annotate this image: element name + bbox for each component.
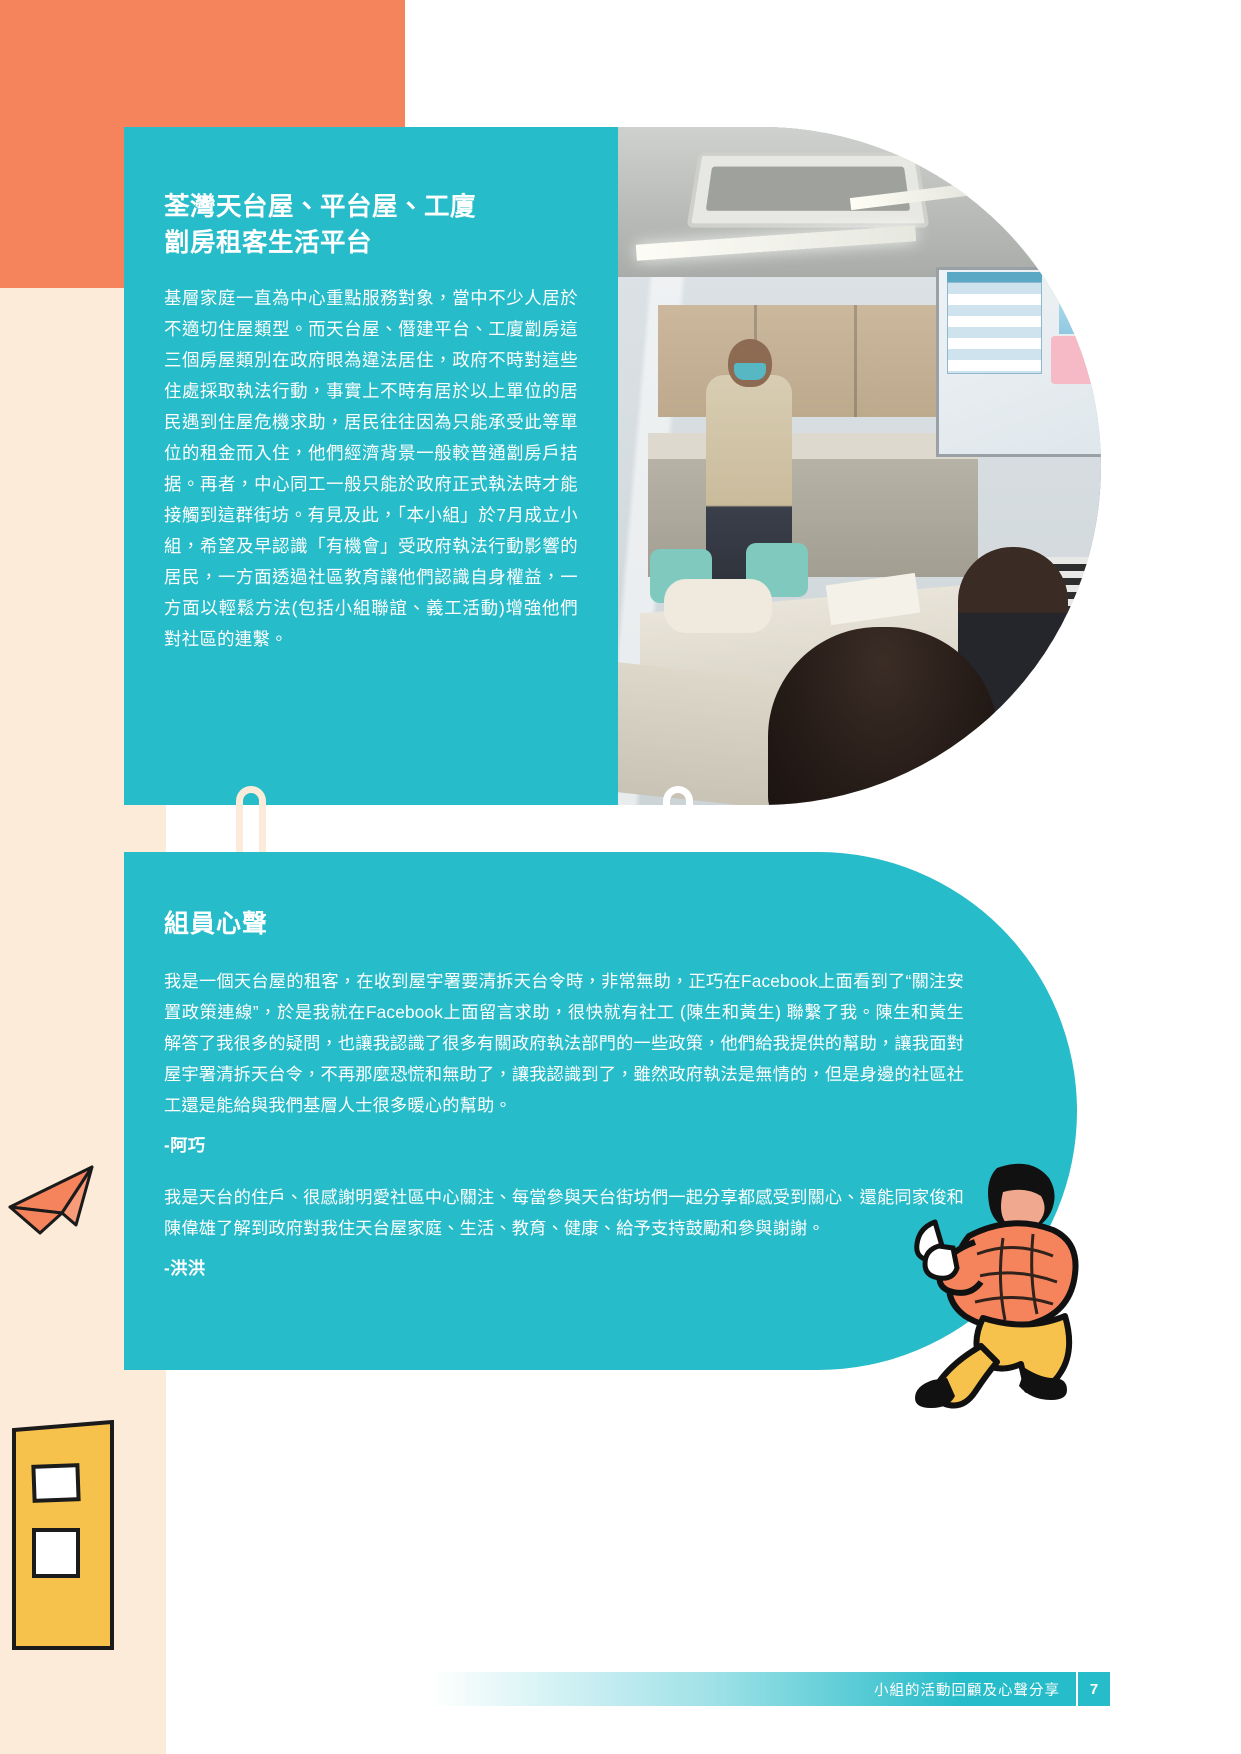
testimonial-text: 我是一個天台屋的租客，在收到屋宇署要清拆天台令時，非常無助，正巧在Faceboo…: [164, 966, 964, 1121]
page-number: 7: [1090, 1681, 1098, 1698]
photo-counter-top: [648, 433, 978, 459]
paper-plane-icon: [6, 1155, 116, 1245]
photo-wall-cabinets: [658, 305, 958, 417]
intro-card: 荃灣天台屋、平台屋、工廈 劏房租客生活平台 基層家庭一直為中心重點服務對象，當中…: [124, 127, 618, 805]
yellow-box-icon: [8, 1420, 116, 1650]
photo-speaker-mask-icon: [734, 363, 766, 380]
page-footer: 小組的活動回顧及心聲分享 7: [430, 1672, 1110, 1706]
card-body-text: 基層家庭一直為中心重點服務對象，當中不少人居於不適切住屋類型。而天台屋、僭建平台…: [164, 283, 578, 655]
card-title: 荃灣天台屋、平台屋、工廈 劏房租客生活平台: [164, 189, 578, 261]
footer-label: 小組的活動回顧及心聲分享: [874, 1679, 1076, 1700]
photo-scene: [618, 127, 1101, 805]
photo-slide-table: [947, 282, 1042, 374]
testimonial-text: 我是天台的住戶、很感謝明愛社區中心關注、每當參與天台街坊們一起分享都感受到關心、…: [164, 1182, 964, 1244]
photo-slide-table-header: [947, 272, 1042, 282]
brochure-page: 荃灣天台屋、平台屋、工廈 劏房租客生活平台 基層家庭一直為中心重點服務對象，當中…: [0, 0, 1241, 1754]
page-number-box: 7: [1076, 1672, 1110, 1706]
card-title-line-2: 劏房租客生活平台: [164, 225, 578, 261]
testimonial-2: 我是天台的住戶、很感謝明愛社區中心關注、每當參與天台街坊們一起分享都感受到關心、…: [164, 1182, 964, 1279]
card-title-line-1: 荃灣天台屋、平台屋、工廈: [164, 189, 578, 225]
photo-projector-screen: [936, 267, 1101, 457]
photo-bag: [664, 579, 772, 633]
photo-slide-building: [1059, 282, 1101, 334]
running-person-icon: [905, 1150, 1145, 1410]
photo-ceiling-vent-icon: [686, 152, 929, 227]
activity-photo: [618, 127, 1101, 805]
testimonial-1: 我是一個天台屋的租客，在收到屋宇署要清拆天台令時，非常無助，正巧在Faceboo…: [164, 966, 964, 1156]
photo-slide-caption: [1051, 336, 1101, 384]
section-title: 組員心聲: [164, 904, 964, 940]
testimonial-author: -阿巧: [164, 1131, 964, 1156]
testimonial-author: -洪洪: [164, 1254, 964, 1279]
